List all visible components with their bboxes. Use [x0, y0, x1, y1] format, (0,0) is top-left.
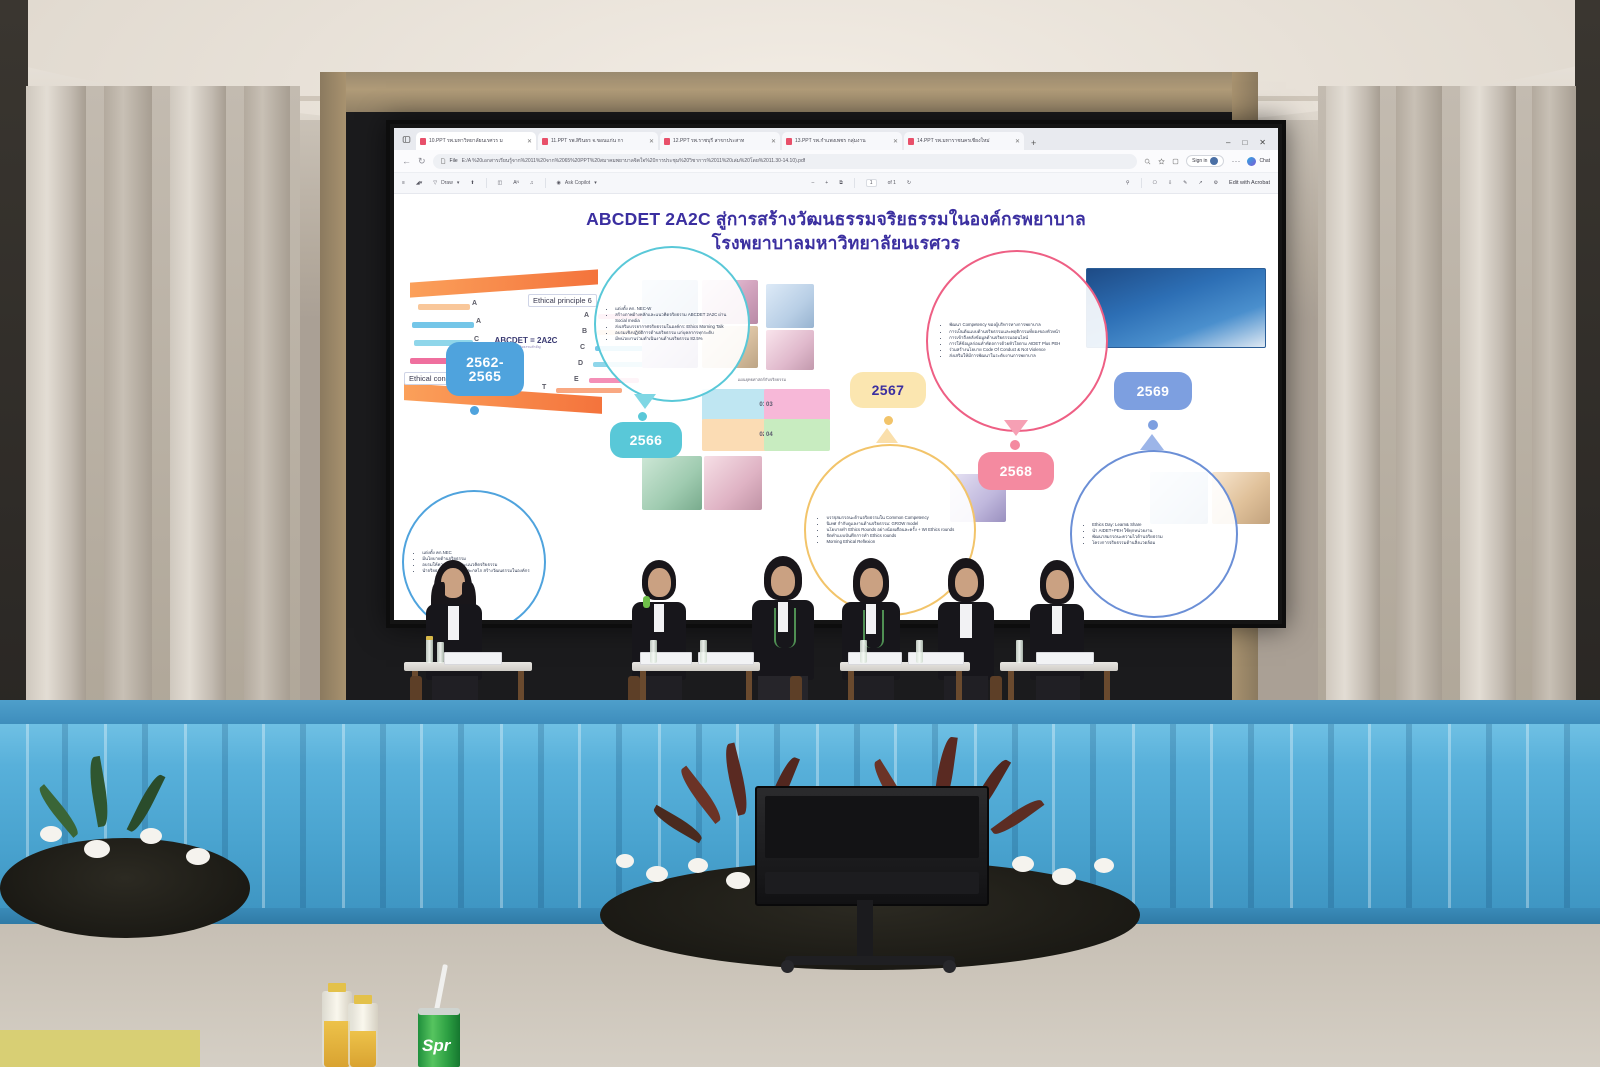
tab-search-icon[interactable]	[398, 131, 414, 147]
erase-icon[interactable]: ⬆	[470, 180, 474, 186]
toolbar-divider	[545, 178, 546, 188]
window-controls[interactable]: – □ ✕	[1226, 138, 1274, 150]
timeline-arrow-down	[1004, 420, 1028, 436]
bullet: นิเทศ กำกับดูแลงานด้านจริยธรรม: GROW mod…	[826, 521, 960, 527]
tab-favicon-pdf	[786, 138, 792, 145]
year-badge-2566: 2566	[610, 422, 682, 458]
fit-page-button[interactable]: ⧉	[839, 180, 843, 186]
bullet: อบรมเชิงปฏิบัติการด้านจริยธรรม แก่บุคลาก…	[615, 330, 736, 336]
framework-letter-right-6: T	[542, 384, 546, 391]
bullet: บรรจุสมรรถนะด้านจริยธรรมใน Common Compet…	[826, 515, 960, 521]
zoom-out-button[interactable]: –	[812, 180, 815, 186]
lanyard	[774, 608, 796, 648]
bullet-list: พัฒนา Competency ของผู้บริหารทางการพยาบา…	[942, 322, 1092, 359]
timeline-dot	[1148, 420, 1158, 430]
water-bottle	[860, 640, 867, 663]
maximize-button[interactable]: □	[1242, 138, 1247, 147]
monitor-screen	[765, 796, 979, 858]
save-icon[interactable]: ⇩	[1168, 180, 1172, 186]
timeline-dot	[470, 406, 479, 415]
bullet: การให้ข้อมูลก่อนทำหัตถการด้วยหัวใจตาม AI…	[949, 341, 1092, 347]
print-icon[interactable]: ⎔	[1153, 180, 1157, 186]
bullet: มีหน่วยงานร่วมดำเนินงานด้านจริยธรรม 82.5…	[615, 336, 736, 342]
tab-title: 12.PPT รพ.ราชบุรี สาขาประสาท	[673, 137, 768, 145]
pdf-toolbar[interactable]: ≡ ◢▾ ▽ Draw▾ ⬆ ◫ Aᴺ ♫ ◉ Ask Copilot▾ – +…	[394, 173, 1278, 194]
bullet-list: Ethics Day: Learn& Share นำ AIDET+PEH ใช…	[1085, 522, 1223, 546]
name-plate	[1036, 652, 1094, 665]
water-bottle	[1016, 640, 1023, 663]
fullscreen-icon[interactable]: ↗	[1198, 180, 1202, 186]
year-badge-2569: 2569	[1114, 372, 1192, 410]
wall-edge-right	[1575, 0, 1600, 720]
bullet: พัฒนาสมรรถนะความไวด้านจริยธรรม	[1092, 534, 1223, 540]
ask-copilot-label: Ask Copilot	[565, 180, 590, 186]
browser-tab-3[interactable]: 12.PPT รพ.ราชบุรี สาขาประสาท ✕	[660, 132, 780, 150]
avatar	[1210, 157, 1218, 165]
find-icon[interactable]: ⚲	[1126, 180, 1130, 186]
bullet: Morning Ethical Reflexion	[826, 539, 960, 545]
can-rim	[418, 1008, 460, 1015]
bubble-content: Ethics Day: Learn& Share นำ AIDET+PEH ใช…	[1085, 522, 1223, 547]
page-count-label: of 1	[888, 180, 896, 186]
browser-tab-2[interactable]: 11.PPT รพ.สิรินธร จ.ขอนแก่น กา ✕	[538, 132, 658, 150]
pillar-2	[104, 86, 152, 716]
sign-in-label: Sign in	[1192, 158, 1207, 164]
water-bottle	[916, 640, 923, 663]
valance-left	[320, 72, 346, 712]
puzzle-text	[704, 404, 757, 407]
flower	[1052, 868, 1076, 885]
read-aloud-icon[interactable]: ♫	[530, 180, 534, 186]
slide-title-line1: ABCDET 2A2C สู่การสร้างวัฒนธรรมจริยธรรมใ…	[586, 209, 1086, 229]
tab-favicon-pdf	[664, 138, 670, 145]
soda-can-foreground: Spr	[408, 958, 478, 1067]
ellipsis-icon[interactable]: ⋯	[1231, 156, 1240, 167]
reload-icon[interactable]: ↻	[418, 156, 426, 167]
framework-chip	[412, 322, 474, 328]
tab-close-icon[interactable]: ✕	[893, 138, 898, 145]
zoom-in-button[interactable]: +	[825, 180, 828, 186]
plant-leaves-3	[52, 756, 192, 886]
toolbar-divider	[1141, 178, 1142, 188]
microphone-icon	[643, 596, 650, 608]
layout-icon[interactable]: ◫	[498, 180, 503, 186]
framework-chip	[556, 388, 622, 393]
stage-valance	[320, 72, 1258, 116]
timeline-bubble-2566: แต่งตั้ง คก. NEC-W สร้างภาพอ้างหลักและแน…	[594, 246, 750, 402]
soda-can-label: Spr	[422, 1036, 450, 1056]
flower	[1094, 858, 1114, 873]
tab-title: 11.PPT รพ.สิรินธร จ.ขอนแก่น กา	[551, 137, 646, 145]
monitor-pole	[857, 900, 873, 962]
tab-close-icon[interactable]: ✕	[527, 138, 532, 145]
puzzle-piece-04: 04	[764, 419, 830, 451]
bullet: Ethics Day: Learn& Share	[1092, 522, 1223, 528]
framework-letter-right-3: C	[580, 344, 585, 351]
toolbar-divider	[486, 178, 487, 188]
water-bottle	[700, 640, 707, 663]
tab-close-icon[interactable]: ✕	[771, 138, 776, 145]
tab-title: 14.PPT รพ.มหาราชนครเชียงใหม่	[917, 137, 1012, 145]
bullet: โครงการจริยธรรมด้านสิ่งแวดล้อม	[1092, 540, 1223, 546]
browser-window: 10.PPT รพ.มหาวิทยาลัยนเรศวร ม ✕ 11.PPT ร…	[394, 128, 1278, 620]
toc-icon[interactable]: ≡	[402, 180, 405, 186]
back-icon[interactable]: ←	[402, 156, 411, 166]
puzzle-text	[775, 404, 828, 407]
auditorium-scene: 10.PPT รพ.มหาวิทยาลัยนเรศวร ม ✕ 11.PPT ร…	[0, 0, 1600, 1067]
bubble-content: บรรจุสมรรถนะด้านจริยธรรมใน Common Compet…	[819, 515, 960, 546]
pillar-4	[244, 86, 290, 716]
wall-edge-left	[0, 0, 28, 720]
flower	[616, 854, 634, 868]
url-input[interactable]: File E:/A %20เอกสารเรียนรู้จาก%2011%20จา…	[433, 154, 1138, 169]
pillar-5	[1326, 86, 1380, 716]
settings-gear-icon[interactable]: ⚙	[1214, 180, 1218, 186]
slide-photo-6	[766, 330, 814, 370]
framework-letter-right-5: E	[574, 376, 579, 383]
tab-favicon-pdf	[908, 138, 914, 145]
stage-edge	[0, 700, 1600, 726]
monitor-base	[785, 956, 955, 965]
year-badge-2567: 2567	[850, 372, 926, 408]
flower	[1012, 856, 1034, 872]
minimize-button[interactable]: –	[1226, 138, 1230, 147]
edit-with-acrobat-button[interactable]: Edit with Acrobat	[1229, 180, 1270, 186]
bullet: นำ AIDET+PEH ใช้ทุกหน่วยงาน	[1092, 528, 1223, 534]
slide-photo-7	[642, 456, 702, 510]
url-text: E:/A %20เอกสารเรียนรู้จาก%2011%20จาก%206…	[462, 157, 806, 165]
year-badge-2562-2565: 2562- 2565	[446, 342, 524, 396]
sign-in-button[interactable]: Sign in	[1186, 155, 1224, 167]
monitor-stand	[785, 900, 955, 972]
caster-wheel	[943, 960, 956, 973]
bullet-list: บรรจุสมรรถนะด้านจริยธรรมใน Common Compet…	[819, 515, 960, 545]
tab-title: 13.PPT รพ.กำแพงเพชร กลุ่มงาน	[795, 137, 890, 145]
puzzle-piece-02: 02	[702, 419, 768, 451]
slide-photo-5	[766, 284, 814, 328]
slide-title-line2: โรงพยาบาลมหาวิทยาลัยนเรศวร	[394, 232, 1278, 256]
flower	[688, 858, 708, 873]
ethical-principle-label: Ethical principle 6	[528, 294, 597, 307]
collections-icon[interactable]	[1172, 158, 1179, 165]
browser-tab-5[interactable]: 14.PPT รพ.มหาราชนครเชียงใหม่ ✕	[904, 132, 1024, 150]
text-size-icon[interactable]: Aᴺ	[513, 180, 519, 186]
timeline-arrow-up	[876, 428, 898, 443]
rotate-icon[interactable]: ↻	[907, 180, 911, 186]
tab-close-icon[interactable]: ✕	[1015, 138, 1020, 145]
puzzle-piece-01: 01	[702, 389, 768, 421]
slide-photo-group	[1086, 268, 1266, 348]
close-button[interactable]: ✕	[1259, 138, 1266, 147]
timeline-dot	[638, 412, 647, 421]
search-icon[interactable]	[1144, 158, 1151, 165]
name-plate	[848, 652, 902, 665]
water-bottle	[437, 642, 444, 663]
flower	[84, 840, 110, 858]
bubble-content: พัฒนา Competency ของผู้บริหารทางการพยาบา…	[942, 322, 1092, 359]
flower	[186, 848, 210, 865]
tab-title: 10.PPT รพ.มหาวิทยาลัยนเรศวร ม	[429, 137, 524, 145]
flower	[646, 866, 668, 882]
framework-letter-right-1: A	[584, 312, 589, 319]
name-plate	[444, 652, 502, 665]
pillar-3	[170, 86, 226, 716]
flower	[140, 828, 162, 844]
framework-letter-right-4: D	[578, 360, 583, 367]
slide-photo-8	[704, 456, 762, 510]
foreground-table	[0, 1030, 200, 1067]
monitor-panel	[765, 872, 979, 894]
name-plate	[640, 652, 692, 665]
tab-favicon-pdf	[420, 138, 426, 145]
bullet: การเป็นต้นแบบด้านจริยธรรมและพฤติกรรมที่ย…	[949, 329, 1092, 335]
url-file-label: File	[450, 158, 458, 164]
bullet: จัดทำแบบบันทึกการทำ Ethics rounds	[826, 533, 960, 539]
ask-copilot-icon[interactable]: ◉ Ask Copilot▾	[557, 180, 597, 186]
copilot-label: Chat	[1259, 158, 1270, 164]
framework-letter-right-2: B	[582, 328, 587, 335]
toolbar-divider	[854, 178, 855, 188]
file-icon	[440, 158, 446, 164]
tab-close-icon[interactable]: ✕	[649, 138, 654, 145]
flower	[40, 826, 62, 842]
address-bar[interactable]: ← ↻ File E:/A %20เอกสารเรียนรู้จาก%2011%…	[394, 150, 1278, 173]
tab-favicon-pdf	[542, 138, 548, 145]
framework-letter-left-1: A	[472, 300, 477, 307]
bullet: ส่งเสริมบรรยากาศจริยธรรมในองค์กร: Ethics…	[615, 324, 736, 330]
water-bottles-foreground	[320, 975, 380, 1067]
browser-tab-4[interactable]: 13.PPT รพ.กำแพงเพชร กลุ่มงาน ✕	[782, 132, 902, 150]
caster-wheel	[781, 960, 794, 973]
pillar-8	[1532, 86, 1576, 716]
draw-icon[interactable]: ▽ Draw▾	[433, 180, 459, 186]
timeline-bubble-2568: พัฒนา Competency ของผู้บริหารทางการพยาบา…	[926, 250, 1108, 432]
copilot-icon	[1247, 157, 1256, 166]
puzzle-text	[704, 434, 757, 437]
pillar-1	[26, 86, 86, 716]
bullet: พัฒนา Competency ของผู้บริหารทางการพยาบา…	[949, 322, 1092, 328]
flower	[726, 872, 750, 889]
puzzle-text	[775, 434, 828, 437]
browser-tab-strip[interactable]: 10.PPT รพ.มหาวิทยาลัยนเรศวร ม ✕ 11.PPT ร…	[394, 128, 1278, 150]
bullet: แต่งตั้ง คก. NEC-W	[615, 306, 736, 312]
bubble-content: แต่งตั้ง คก. NEC-W สร้างภาพอ้างหลักและแน…	[608, 306, 736, 343]
pillar-6	[1396, 86, 1442, 716]
water-bottle	[426, 639, 433, 663]
water-bottle	[650, 640, 657, 663]
timeline-bubble-2569: Ethics Day: Learn& Share นำ AIDET+PEH ใช…	[1070, 450, 1238, 618]
bullet: ร่วมสร้างนโยบาย Code Of Conduct & Not Vi…	[949, 347, 1092, 353]
projection-screen: 10.PPT รพ.มหาวิทยาลัยนเรศวร ม ✕ 11.PPT ร…	[386, 120, 1286, 628]
framework-letter-left-2: A	[476, 318, 481, 325]
timeline-dot	[884, 416, 893, 425]
annotate-icon[interactable]: ✎	[1183, 180, 1187, 186]
confidence-monitor	[755, 786, 989, 906]
bullet: สร้างภาพอ้างหลักและแนวคิดจริยธรรม ABCDET…	[615, 312, 736, 323]
page-number-input[interactable]: 1	[866, 179, 877, 187]
slide-title: ABCDET 2A2C สู่การสร้างวัฒนธรรมจริยธรรมใ…	[394, 208, 1278, 255]
pdf-slide: ABCDET 2A2C สู่การสร้างวัฒนธรรมจริยธรรมใ…	[394, 194, 1278, 620]
bullet-list: แต่งตั้ง คก. NEC-W สร้างภาพอ้างหลักและแน…	[608, 306, 736, 342]
puzzle-piece-03: 03	[764, 389, 830, 421]
framework-chip	[418, 304, 470, 310]
pillar-7	[1460, 86, 1516, 716]
timeline-arrow-down	[634, 394, 656, 409]
new-tab-button[interactable]: +	[1026, 138, 1041, 148]
bullet: ส่งเสริมให้มีการพัฒนาในระดับงานการพยาบาล	[949, 353, 1092, 359]
copilot-chat-button[interactable]: Chat	[1247, 157, 1270, 166]
bullet: การเข้าถึงคลังข้อมูลด้านจริยธรรมออนไลน์	[949, 335, 1092, 341]
bullet: แต่งตั้ง คก.NEC	[422, 550, 533, 556]
bullet: นโยบายทำ Ethics Rounds อย่างน้อยเดือนละค…	[826, 527, 960, 533]
highlight-icon[interactable]: ◢▾	[416, 180, 422, 186]
timeline-arrow-up	[1140, 434, 1164, 450]
draw-label: Draw	[441, 180, 453, 186]
browser-tab-1[interactable]: 10.PPT รพ.มหาวิทยาลัยนเรศวร ม ✕	[416, 132, 536, 150]
star-icon[interactable]	[1158, 158, 1165, 165]
puzzle-number: 03	[766, 402, 773, 408]
puzzle-number: 04	[766, 432, 773, 438]
year-badge-2568: 2568	[978, 452, 1054, 490]
timeline-dot	[1010, 440, 1020, 450]
